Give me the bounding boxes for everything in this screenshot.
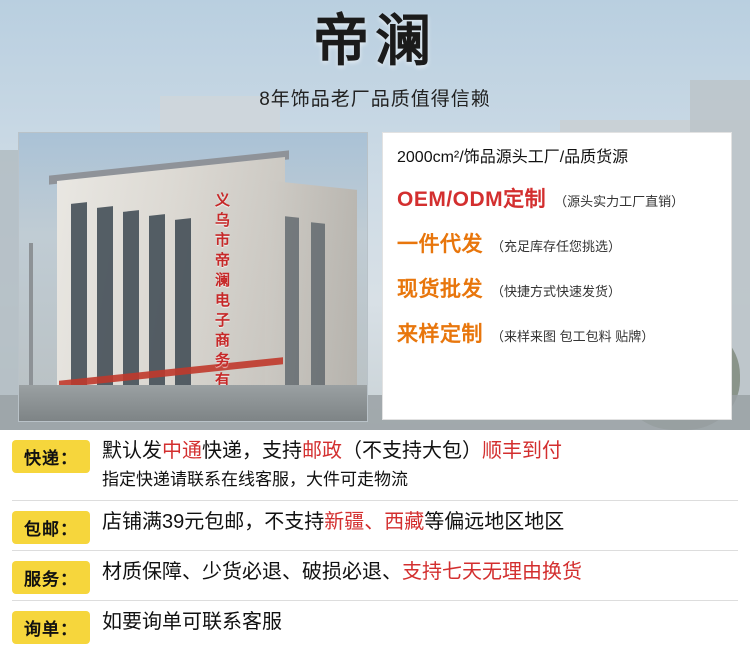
info-row-inquiry: 询单： 如要询单可联系客服 (0, 607, 750, 644)
info-content-service: 材质保障、少货必退、破损必退、支持七天无理由换货 (90, 557, 738, 587)
info-label-freeshipping: 包邮： (12, 511, 90, 544)
factory-photo: 义 乌 市 帝 澜 电 子 商 务 有 限 公 司 (18, 132, 368, 422)
seg-5: 顺丰到付 (482, 440, 562, 462)
sign-char-8: 务 (215, 351, 241, 371)
info-label-service: 服务： (12, 561, 90, 594)
seg-1: 中通 (162, 440, 202, 462)
info-line-shipping-1: 默认发中通快递，支持邮政（不支持大包）顺丰到付 (102, 436, 738, 466)
card-keyword-oem: OEM/ODM定制 (397, 183, 546, 213)
sign-char-6: 子 (215, 311, 241, 331)
info-content-inquiry: 如要询单可联系客服 (90, 607, 738, 637)
page-subtitle: 8年饰品老厂品质值得信赖 (0, 84, 750, 111)
sign-char-0: 义 (215, 191, 241, 211)
card-row-oem: OEM/ODM定制 （源头实力工厂直销） (397, 183, 719, 213)
card-note-oem: （源头实力工厂直销） (554, 191, 684, 210)
title-block: 帝澜 8年饰品老厂品质值得信赖 (0, 10, 750, 111)
card-note-wholesale: （快捷方式快速发货） (491, 281, 621, 300)
sign-char-4: 澜 (215, 271, 241, 291)
sign-char-3: 帝 (215, 251, 241, 271)
banner-photo-area: 帝澜 8年饰品老厂品质值得信赖 义 乌 市 帝 澜 电 子 (0, 0, 750, 430)
info-row-shipping: 快递： 默认发中通快递，支持邮政（不支持大包）顺丰到付 指定快递请联系在线客服，… (0, 430, 750, 494)
card-row-wholesale: 现货批发 （快捷方式快速发货） (397, 273, 719, 303)
promo-page: 帝澜 8年饰品老厂品质值得信赖 义 乌 市 帝 澜 电 子 (0, 0, 750, 670)
info-content-shipping: 默认发中通快递，支持邮政（不支持大包）顺丰到付 指定快递请联系在线客服，大件可走… (90, 436, 738, 494)
card-keyword-sample: 来样定制 (397, 318, 483, 348)
divider-1 (12, 500, 738, 501)
info-line-freeshipping-1: 店铺满39元包邮，不支持新疆、西藏等偏远地区地区 (102, 507, 738, 537)
card-row-dropship: 一件代发 （充足库存任您挑选） (397, 228, 719, 258)
seg-1: 新疆、西藏 (324, 511, 424, 533)
card-row-sample: 来样定制 （来样来图 包工包料 贴牌） (397, 318, 719, 348)
divider-3 (12, 600, 738, 601)
info-row-service: 服务： 材质保障、少货必退、破损必退、支持七天无理由换货 (0, 557, 750, 594)
info-row-freeshipping: 包邮： 店铺满39元包邮，不支持新疆、西藏等偏远地区地区 (0, 507, 750, 544)
light-pole (29, 243, 33, 403)
window-column-3 (123, 210, 139, 412)
info-label-shipping: 快递： (12, 440, 90, 473)
seg-1: 支持七天无理由换货 (402, 561, 582, 583)
sign-char-5: 电 (215, 291, 241, 311)
sign-char-7: 商 (215, 331, 241, 351)
seg-3: 邮政 (302, 440, 342, 462)
sign-char-1: 乌 (215, 211, 241, 231)
seg-2: 等偏远地区地区 (424, 511, 564, 533)
window-column-1 (71, 202, 87, 404)
divider-2 (12, 550, 738, 551)
service-info-table: 快递： 默认发中通快递，支持邮政（不支持大包）顺丰到付 指定快递请联系在线客服，… (0, 430, 750, 670)
info-content-freeshipping: 店铺满39元包邮，不支持新疆、西藏等偏远地区地区 (90, 507, 738, 537)
info-line-inquiry-1: 如要询单可联系客服 (102, 607, 738, 637)
sign-char-2: 市 (215, 231, 241, 251)
card-keyword-dropship: 一件代发 (397, 228, 483, 258)
seg-0: 默认发 (102, 440, 162, 462)
seg-0: 材质保障、少货必退、破损必退、 (102, 561, 402, 583)
seg-2: 快递，支持 (202, 440, 302, 462)
card-keyword-wholesale: 现货批发 (397, 273, 483, 303)
window-column-7 (311, 222, 325, 409)
info-line-service-1: 材质保障、少货必退、破损必退、支持七天无理由换货 (102, 557, 738, 587)
window-column-4 (149, 214, 165, 414)
seg-4: （不支持大包） (342, 440, 482, 462)
card-note-dropship: （充足库存任您挑选） (491, 236, 621, 255)
info-label-inquiry: 询单： (12, 611, 90, 644)
highlights-card: 2000cm²/饰品源头工厂/品质货源 OEM/ODM定制 （源头实力工厂直销）… (382, 132, 732, 420)
window-column-6 (285, 216, 299, 407)
card-note-sample: （来样来图 包工包料 贴牌） (491, 326, 654, 345)
card-line-1: 2000cm²/饰品源头工厂/品质货源 (397, 147, 719, 169)
page-title: 帝澜 (0, 10, 750, 74)
photo-ground (19, 385, 367, 421)
seg-0: 店铺满39元包邮，不支持 (102, 511, 324, 533)
info-line-shipping-2: 指定快递请联系在线客服，大件可走物流 (102, 466, 738, 494)
